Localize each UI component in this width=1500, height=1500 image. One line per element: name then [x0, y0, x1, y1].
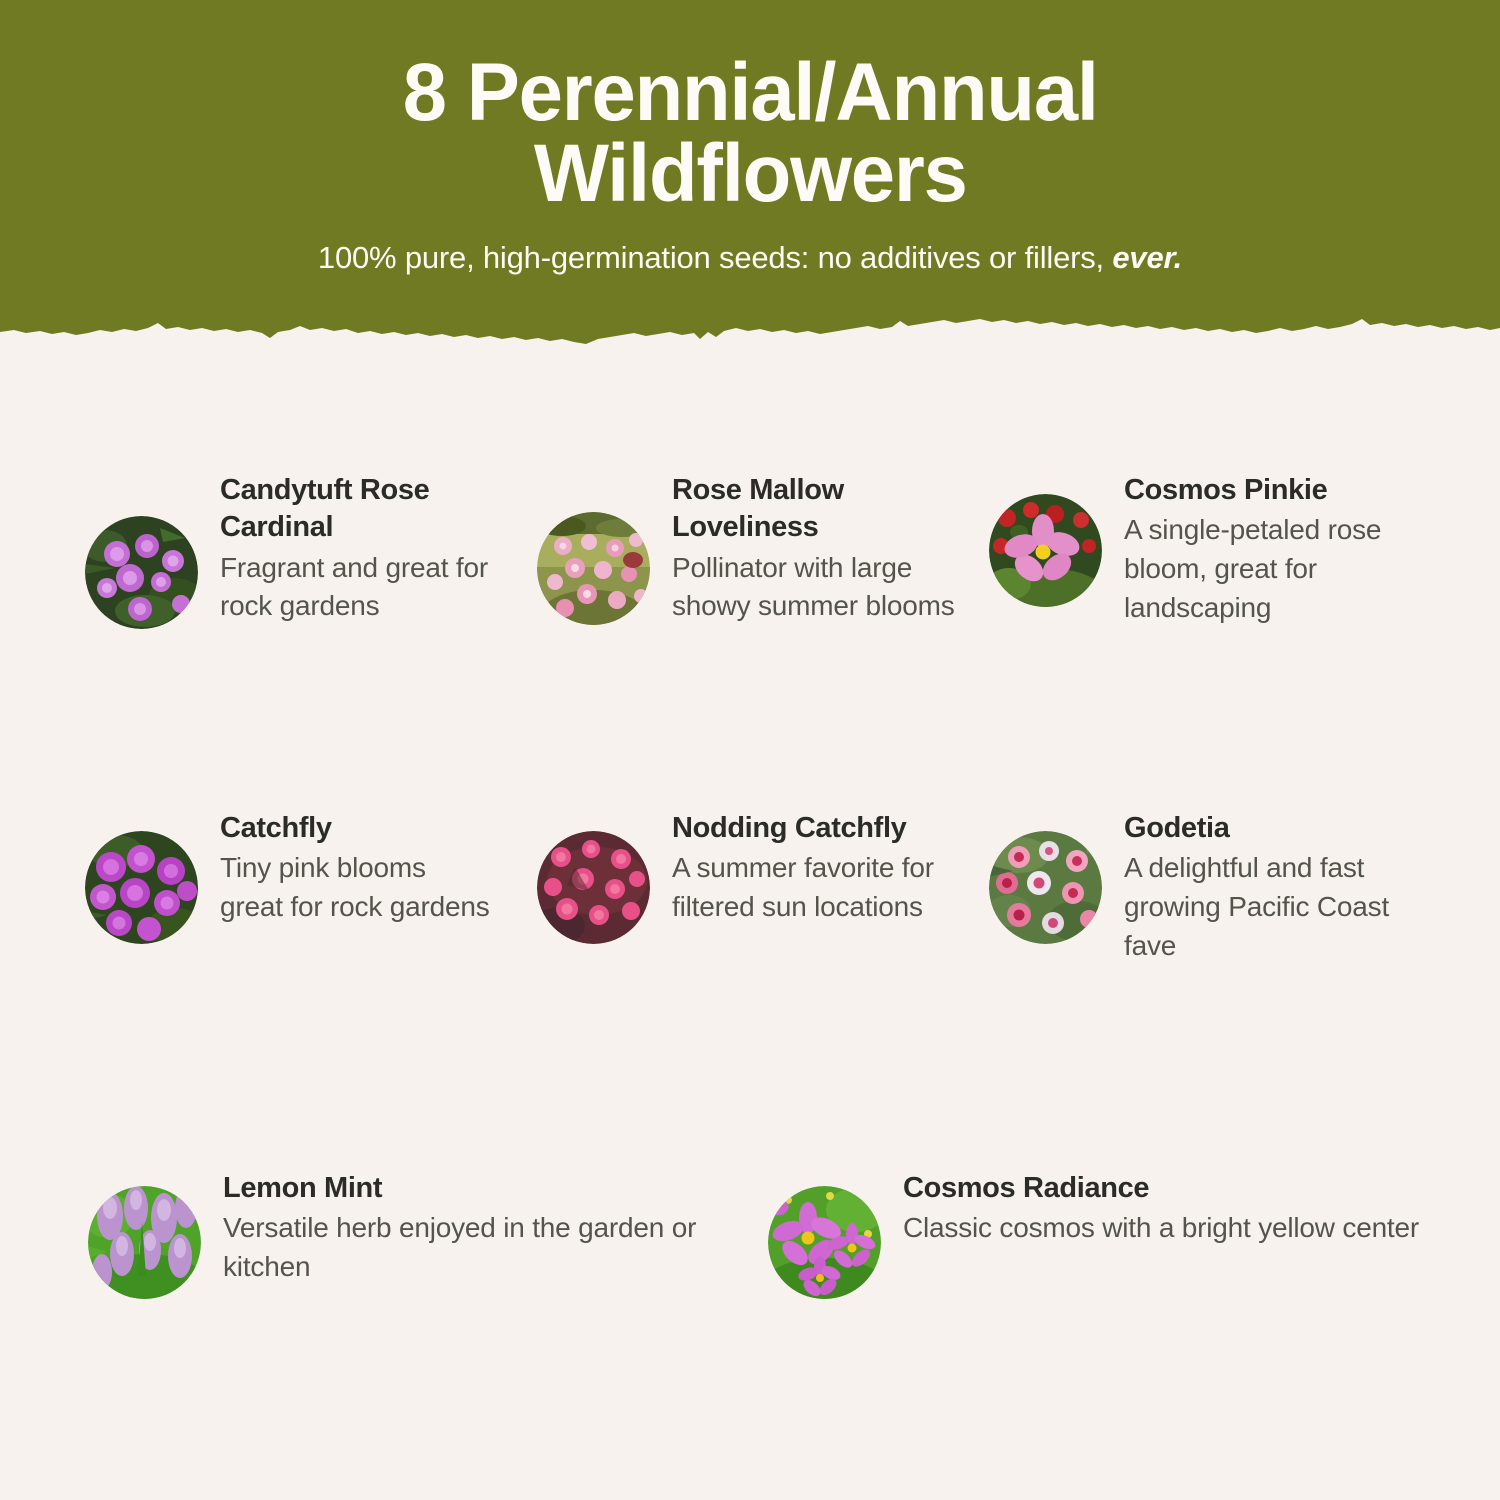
list-item-nodding-catchfly[interactable]: Nodding Catchfly A summer favorite for f… — [537, 808, 989, 965]
item-text-block: Rose Mallow Loveliness Pollinator with l… — [672, 470, 972, 626]
species-description: Classic cosmos with a bright yellow cent… — [903, 1209, 1423, 1248]
list-item-cosmos-pinkie[interactable]: Cosmos Pinkie A single-petaled rose bloo… — [989, 470, 1441, 629]
item-text-block: Godetia A delightful and fast growing Pa… — [1124, 808, 1424, 965]
flower-photo-icon — [537, 831, 650, 944]
species-name: Godetia — [1124, 810, 1424, 847]
flower-photo-icon — [537, 512, 650, 625]
page-title: 8 Perennial/Annual Wildflowers — [402, 52, 1097, 214]
flower-photo-icon — [85, 516, 198, 629]
species-description: A single-petaled rose bloom, great for l… — [1124, 511, 1429, 627]
species-description: A delightful and fast growing Pacific Co… — [1124, 849, 1424, 965]
item-text-block: Nodding Catchfly A summer favorite for f… — [672, 808, 947, 927]
flower-photo-icon — [989, 831, 1102, 944]
list-item-candytuft-rose-cardinal[interactable]: Candytuft Rose Cardinal Fragrant and gre… — [85, 470, 537, 629]
flower-photo-icon — [85, 831, 198, 944]
item-text-block: Catchfly Tiny pink blooms great for rock… — [220, 808, 490, 927]
page-subtitle-text: 100% pure, high-germination seeds: no ad… — [318, 240, 1112, 275]
header-banner: 8 Perennial/Annual Wildflowers 100% pure… — [0, 0, 1500, 356]
page-subtitle: 100% pure, high-germination seeds: no ad… — [318, 240, 1182, 276]
flower-photo-icon — [88, 1186, 201, 1299]
item-text-block: Candytuft Rose Cardinal Fragrant and gre… — [220, 470, 500, 626]
species-name: Lemon Mint — [223, 1170, 743, 1207]
species-row: Lemon Mint Versatile herb enjoyed in the… — [0, 1168, 1500, 1299]
page-title-line-1: 8 Perennial/Annual — [402, 47, 1097, 138]
page-title-line-2: Wildflowers — [534, 128, 967, 219]
flower-photo-icon — [768, 1186, 881, 1299]
species-description: A summer favorite for filtered sun locat… — [672, 849, 947, 926]
species-row: Catchfly Tiny pink blooms great for rock… — [0, 808, 1500, 965]
list-item-rose-mallow-loveliness[interactable]: Rose Mallow Loveliness Pollinator with l… — [537, 470, 989, 629]
list-item-godetia[interactable]: Godetia A delightful and fast growing Pa… — [989, 808, 1441, 965]
item-text-block: Cosmos Pinkie A single-petaled rose bloo… — [1124, 470, 1429, 627]
header-content: 8 Perennial/Annual Wildflowers 100% pure… — [0, 0, 1500, 330]
species-name: Cosmos Radiance — [903, 1170, 1423, 1207]
flower-photo-icon — [989, 494, 1102, 607]
species-description: Fragrant and great for rock gardens — [220, 549, 500, 626]
species-description: Pollinator with large showy summer bloom… — [672, 549, 972, 626]
species-name: Rose Mallow Loveliness — [672, 472, 972, 547]
list-item-catchfly[interactable]: Catchfly Tiny pink blooms great for rock… — [85, 808, 537, 965]
species-name: Candytuft Rose Cardinal — [220, 472, 500, 547]
page-subtitle-emphasis: ever. — [1112, 240, 1182, 275]
item-text-block: Lemon Mint Versatile herb enjoyed in the… — [223, 1168, 743, 1287]
species-grid: Candytuft Rose Cardinal Fragrant and gre… — [0, 356, 1500, 1500]
list-item-cosmos-radiance[interactable]: Cosmos Radiance Classic cosmos with a br… — [768, 1168, 1448, 1299]
species-name: Nodding Catchfly — [672, 810, 947, 847]
species-description: Versatile herb enjoyed in the garden or … — [223, 1209, 743, 1286]
species-row: Candytuft Rose Cardinal Fragrant and gre… — [0, 470, 1500, 629]
species-description: Tiny pink blooms great for rock gardens — [220, 849, 490, 926]
torn-paper-edge-decoration — [0, 306, 1500, 356]
species-name: Catchfly — [220, 810, 490, 847]
list-item-lemon-mint[interactable]: Lemon Mint Versatile herb enjoyed in the… — [88, 1168, 768, 1299]
item-text-block: Cosmos Radiance Classic cosmos with a br… — [903, 1168, 1423, 1248]
species-name: Cosmos Pinkie — [1124, 472, 1429, 509]
